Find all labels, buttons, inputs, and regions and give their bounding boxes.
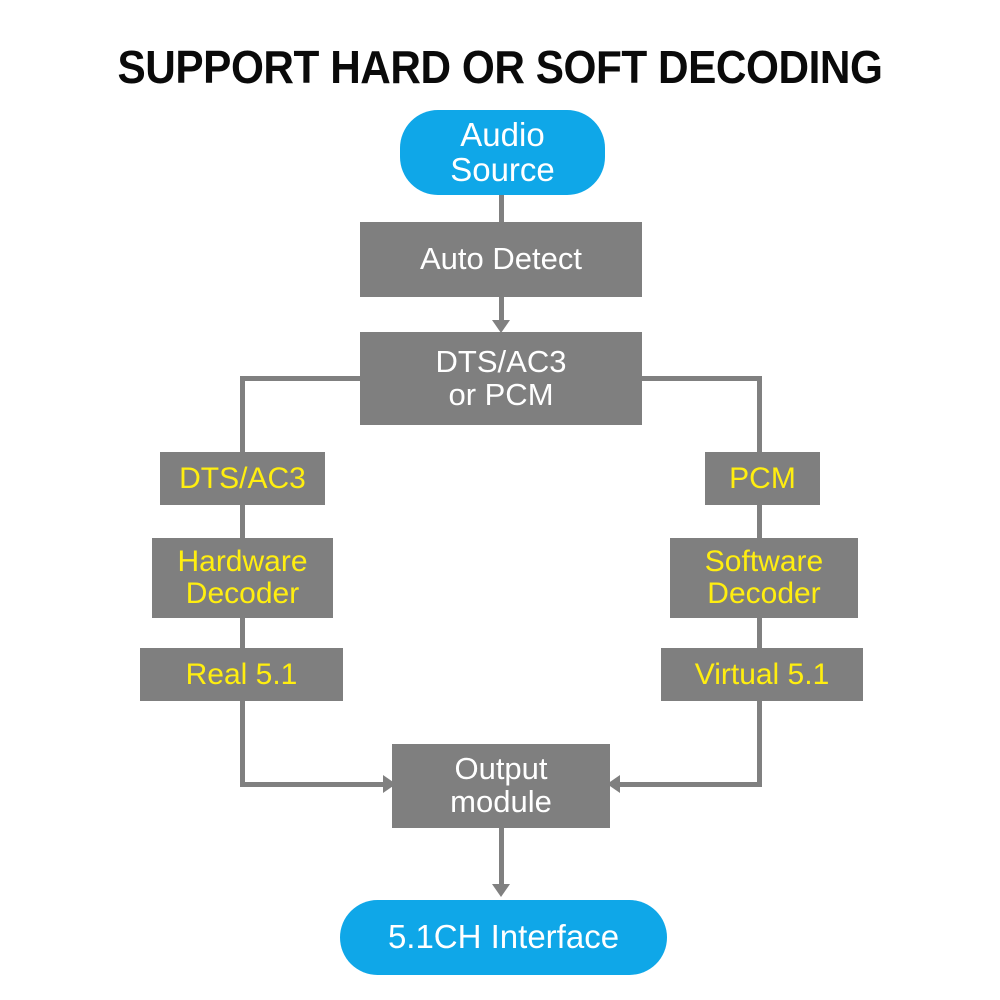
connector-left-result-to-output-horizontal bbox=[240, 782, 395, 787]
connector-auto-detect-to-branch bbox=[499, 297, 504, 322]
page-title: SUPPORT HARD OR SOFT DECODING bbox=[40, 40, 960, 94]
node-left-real-51[interactable]: Real 5.1 bbox=[140, 648, 343, 701]
connector-right-decoder-to-result bbox=[757, 616, 762, 651]
node-audio-source[interactable]: Audio Source bbox=[400, 110, 605, 195]
node-output-module[interactable]: Output module bbox=[392, 744, 610, 828]
connector-right-result-to-output-horizontal bbox=[620, 782, 762, 787]
node-auto-detect[interactable]: Auto Detect bbox=[360, 222, 642, 297]
connector-output-to-interface bbox=[499, 827, 504, 887]
connector-branch-to-right-horizontal bbox=[638, 376, 762, 381]
node-left-hardware-decoder[interactable]: Hardware Decoder bbox=[152, 538, 333, 618]
node-right-format-pcm[interactable]: PCM bbox=[705, 452, 820, 505]
connector-branch-to-left-vertical bbox=[240, 376, 245, 456]
connector-left-format-to-decoder bbox=[240, 503, 245, 541]
node-right-software-decoder[interactable]: Software Decoder bbox=[670, 538, 858, 618]
connector-branch-to-left-horizontal bbox=[240, 376, 364, 381]
node-branch-decision[interactable]: DTS/AC3 or PCM bbox=[360, 332, 642, 425]
flowchart-page: SUPPORT HARD OR SOFT DECODING Audio Sour… bbox=[0, 0, 1000, 1000]
arrowhead-output-to-interface bbox=[492, 884, 510, 897]
node-right-virtual-51[interactable]: Virtual 5.1 bbox=[661, 648, 863, 701]
connector-right-format-to-decoder bbox=[757, 503, 762, 541]
connector-left-result-down bbox=[240, 699, 245, 787]
connector-audio-source-to-auto-detect bbox=[499, 195, 504, 222]
connector-left-decoder-to-result bbox=[240, 616, 245, 651]
node-left-format-dts-ac3[interactable]: DTS/AC3 bbox=[160, 452, 325, 505]
connector-branch-to-right-vertical bbox=[757, 376, 762, 456]
connector-right-result-down bbox=[757, 699, 762, 787]
node-51ch-interface[interactable]: 5.1CH Interface bbox=[340, 900, 667, 975]
